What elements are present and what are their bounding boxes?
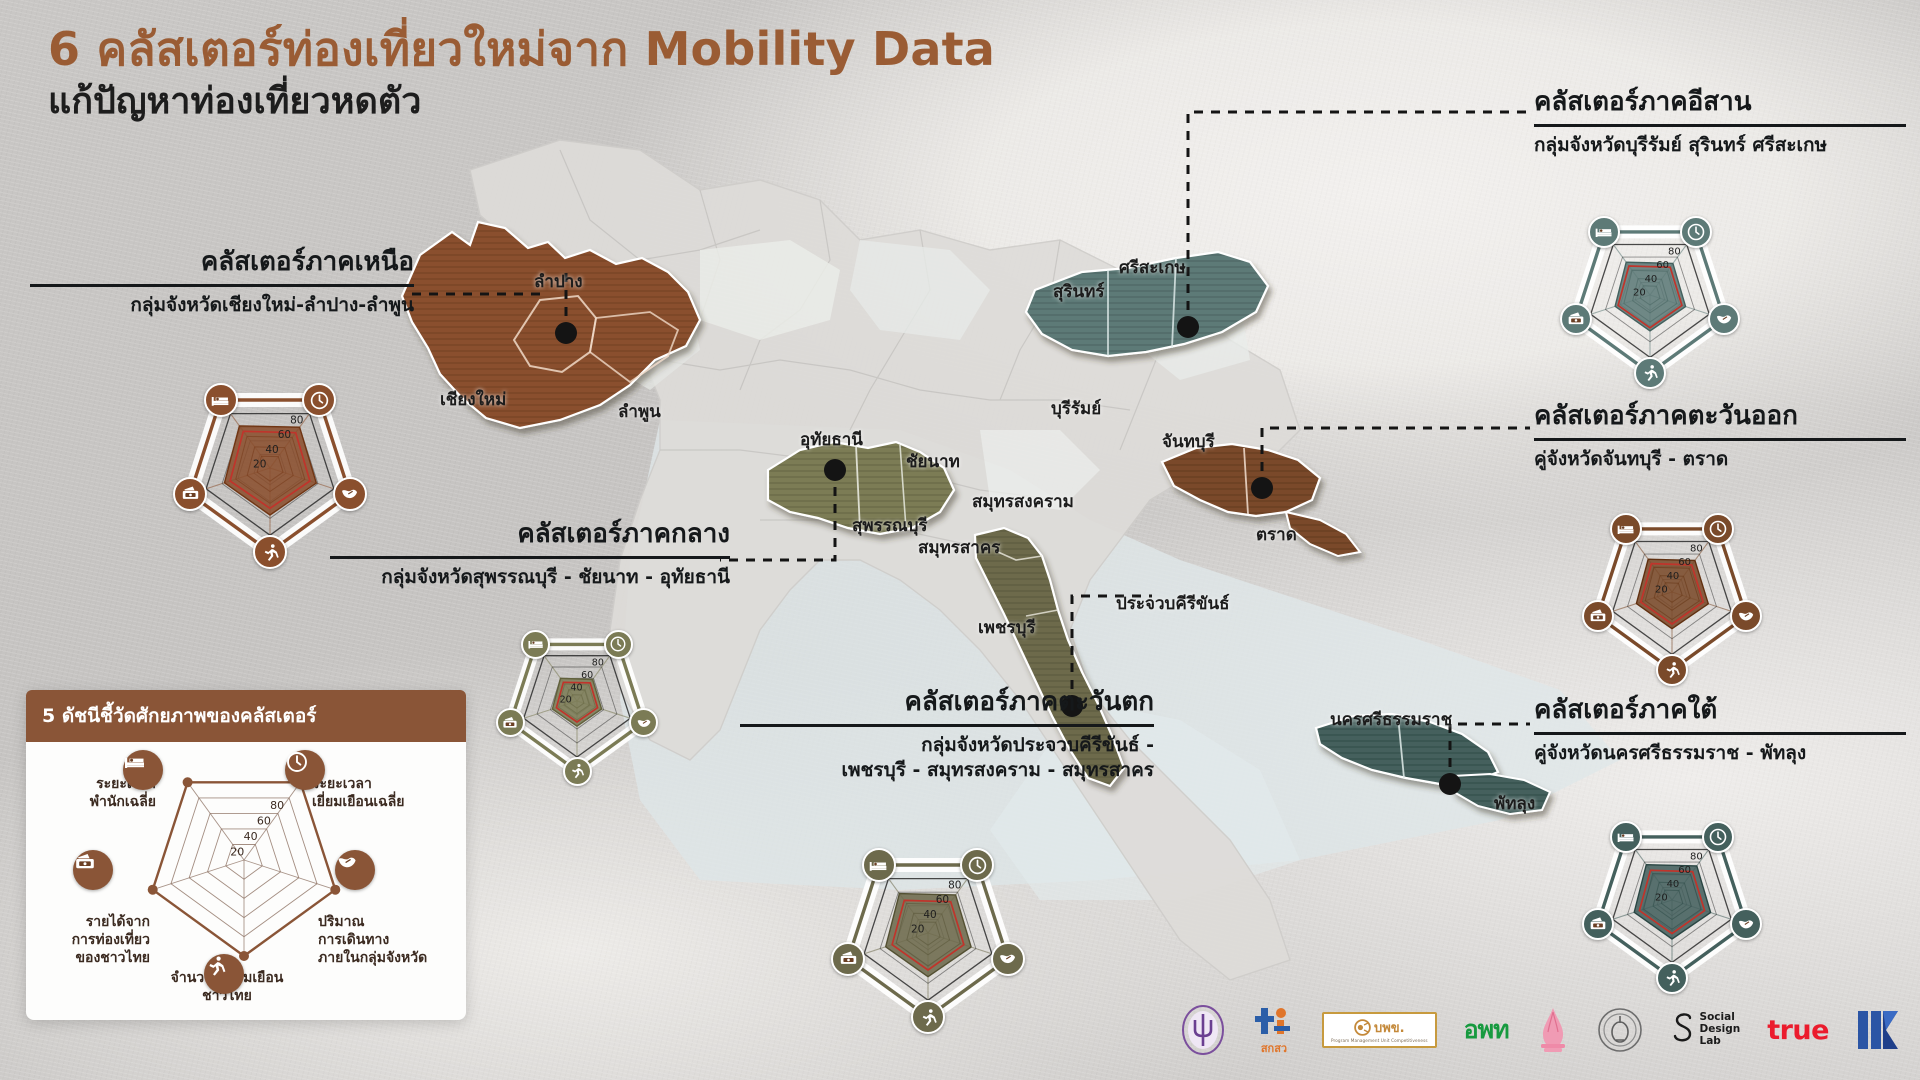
partner-logos: สกสว บพข. Program Management Unit Compet…	[1180, 995, 1900, 1065]
tsri-logo: สกสว	[1253, 1002, 1295, 1058]
radar-axis-runner-badge[interactable]	[1656, 654, 1688, 686]
radar-axis-map-badge[interactable]	[333, 477, 367, 511]
svg-text:40: 40	[265, 444, 278, 456]
legend-title: 5 ดัชนีชี้วัดศักยภาพของคลัสเตอร์	[26, 690, 466, 742]
svg-text:40: 40	[1645, 274, 1658, 285]
radar-axis-bed-badge[interactable]	[1588, 216, 1620, 248]
svg-text:40: 40	[570, 682, 582, 693]
svg-text:20: 20	[1655, 584, 1668, 595]
cluster-subtitle-west-line2: เพชรบุรี - สมุทรสงคราม - สมุทรสาคร	[740, 758, 1154, 784]
radar-axis-bed-badge[interactable]	[1610, 821, 1642, 853]
legend-radar-diagram: 80604020 ระยะเวลาพำนักเฉลี่ย ระยะเวลาเยี…	[26, 742, 466, 1020]
svg-text:60: 60	[581, 670, 593, 681]
cluster-subtitle-west-line1: กลุ่มจังหวัดประจวบคีรีขันธ์ -	[740, 733, 1154, 759]
legend-wallet-icon-badge	[73, 850, 113, 890]
cluster-title-central: คลัสเตอร์ภาคกลาง	[330, 518, 730, 551]
cluster-title-east: คลัสเตอร์ภาคตะวันออก	[1534, 400, 1906, 433]
cluster-label-central[interactable]: คลัสเตอร์ภาคกลาง กลุ่มจังหวัดสุพรรณบุรี …	[330, 518, 730, 590]
cluster-rule-west	[740, 724, 1154, 727]
wallet-icon	[1566, 309, 1586, 329]
cluster-title-south: คลัสเตอร์ภาคใต้	[1534, 694, 1906, 727]
province-label-prachuap: ประจวบคีรีขันธ์	[1116, 590, 1229, 617]
svg-text:60: 60	[1656, 260, 1669, 271]
province-label-lampang: ลำปาง	[534, 268, 583, 295]
map-icon	[339, 483, 360, 504]
svg-text:80: 80	[1690, 852, 1703, 863]
radar-axis-bed-badge[interactable]	[1610, 513, 1642, 545]
blue-mark-logo	[1856, 1002, 1900, 1058]
infographic-canvas: 6 คลัสเตอร์ท่องเที่ยวใหม่จาก Mobility Da…	[0, 0, 1920, 1080]
radar-axis-wallet-badge[interactable]	[831, 942, 865, 976]
radar-chart-east[interactable]: 80604020	[1552, 472, 1792, 712]
svg-text:60: 60	[257, 814, 271, 827]
runner-icon	[204, 954, 228, 978]
svg-text:80: 80	[290, 415, 303, 427]
svg-text:40: 40	[1667, 879, 1680, 890]
legend-label-visit: ระยะเวลาเยี่ยมเยือนเฉลี่ย	[312, 776, 462, 812]
province-label-samutsakhon: สมุทรสาคร	[918, 534, 1000, 561]
map-icon	[1714, 309, 1734, 329]
radar-chart-west[interactable]: 80604020	[800, 805, 1056, 1061]
cluster-subtitle-northeast: กลุ่มจังหวัดบุรีรัมย์ สุรินทร์ ศรีสะเกษ	[1534, 133, 1906, 159]
radar-axis-runner-badge[interactable]	[1634, 357, 1666, 389]
runner-icon	[568, 762, 586, 780]
radar-axis-runner-badge[interactable]	[1656, 962, 1688, 994]
bed-icon	[527, 635, 545, 653]
svg-text:40: 40	[244, 830, 258, 843]
cluster-rule-east	[1534, 438, 1906, 441]
legend-runner-icon-badge	[204, 954, 244, 994]
map-icon	[997, 948, 1018, 969]
bed-icon	[123, 750, 147, 774]
radar-chart-south[interactable]: 80604020	[1552, 780, 1792, 1020]
cluster-title-west: คลัสเตอร์ภาคตะวันตก	[740, 686, 1154, 719]
svg-text:60: 60	[936, 894, 949, 906]
svg-text:80: 80	[1690, 544, 1703, 555]
wallet-icon	[1588, 606, 1608, 626]
page-title: 6 คลัสเตอร์ท่องเที่ยวใหม่จาก Mobility Da…	[48, 22, 995, 123]
radar-axis-clock-badge[interactable]	[1680, 216, 1712, 248]
svg-text:20: 20	[253, 458, 266, 470]
runner-icon	[260, 542, 281, 563]
clock-icon	[285, 750, 309, 774]
legend-label-revenue: รายได้จากการท่องเที่ยวของชาวไทย	[20, 914, 150, 968]
tsri-caption: สกสว	[1261, 1039, 1287, 1057]
cluster-rule-northeast	[1534, 124, 1906, 127]
svg-text:20: 20	[230, 846, 244, 859]
cluster-label-east[interactable]: คลัสเตอร์ภาคตะวันออก คู่จังหวัดจันทบุรี …	[1534, 400, 1906, 472]
province-label-samutsongkhram: สมุทรสงคราม	[972, 488, 1074, 515]
runner-icon	[1640, 363, 1660, 383]
province-label-phetchaburi: เพชรบุรี	[978, 614, 1036, 641]
province-label-lamphun: ลำพูน	[618, 398, 661, 425]
radar-axis-clock-badge[interactable]	[604, 630, 633, 659]
svg-text:20: 20	[1633, 287, 1646, 298]
radar-axis-map-badge[interactable]	[991, 942, 1025, 976]
cluster-connector-north	[410, 286, 550, 302]
svg-text:60: 60	[1678, 557, 1691, 568]
radar-chart-central[interactable]: 80604020	[468, 592, 686, 810]
cluster-subtitle-south: คู่จังหวัดนครศรีธรรมราช - พัทลุง	[1534, 741, 1906, 767]
pink-figure-logo	[1536, 1002, 1570, 1058]
svg-text:40: 40	[923, 909, 936, 921]
cluster-rule-central	[330, 556, 730, 559]
svg-text:80: 80	[592, 658, 604, 669]
radar-axis-wallet-badge[interactable]	[1560, 303, 1592, 335]
svg-text:60: 60	[1678, 865, 1691, 876]
legend-panel: 5 ดัชนีชี้วัดศักยภาพของคลัสเตอร์ 8060402…	[26, 690, 466, 1020]
legend-bed-icon-badge	[123, 750, 163, 790]
true-logo: true	[1767, 1002, 1829, 1058]
runner-icon	[1662, 968, 1682, 988]
cluster-title-northeast: คลัสเตอร์ภาคอีสาน	[1534, 86, 1906, 119]
province-label-chanthaburi: จันทบุรี	[1162, 428, 1215, 455]
province-label-sisaket: ศรีสะเกษ	[1119, 254, 1186, 281]
province-label-chiangmai: เชียงใหม่	[440, 386, 506, 413]
clock-icon	[1686, 222, 1706, 242]
wallet-icon	[501, 714, 519, 732]
wallet-icon	[180, 483, 201, 504]
svg-text:80: 80	[1668, 247, 1681, 258]
bed-icon	[1616, 519, 1636, 539]
runner-icon	[1662, 660, 1682, 680]
radar-axis-wallet-badge[interactable]	[1582, 908, 1614, 940]
radar-axis-bed-badge[interactable]	[204, 383, 238, 417]
cluster-subtitle-north: กลุ่มจังหวัดเชียงใหม่-ลำปาง-ลำพูน	[30, 293, 414, 319]
province-label-uthaithani: อุทัยธานี	[800, 426, 863, 453]
map-icon	[335, 850, 359, 874]
clock-icon	[609, 635, 627, 653]
radar-axis-wallet-badge[interactable]	[173, 477, 207, 511]
province-label-nakhonsi: นครศรีธรรมราช	[1330, 706, 1452, 733]
bed-icon	[868, 855, 889, 876]
dasta-logo: อพท	[1464, 1002, 1509, 1058]
radar-axis-runner-badge[interactable]	[911, 1000, 945, 1034]
cluster-title-north: คลัสเตอร์ภาคเหนือ	[30, 246, 414, 279]
clock-icon	[1708, 519, 1728, 539]
radar-axis-map-badge[interactable]	[629, 708, 658, 737]
province-label-buriram: บุรีรัมย์	[1051, 395, 1101, 422]
true-caption: true	[1767, 1015, 1829, 1046]
radar-axis-wallet-badge[interactable]	[1582, 600, 1614, 632]
cluster-label-south[interactable]: คลัสเตอร์ภาคใต้ คู่จังหวัดนครศรีธรรมราช …	[1534, 694, 1906, 766]
map-icon	[635, 714, 653, 732]
radar-axis-runner-badge[interactable]	[253, 535, 287, 569]
bed-icon	[1594, 222, 1614, 242]
province-label-phatthalung: พัทลุง	[1494, 790, 1535, 817]
pmuc-subcaption: Program Management Unit Competitiveness	[1331, 1038, 1428, 1043]
radar-chart-northeast[interactable]: 80604020	[1530, 175, 1770, 415]
radar-axis-bed-badge[interactable]	[521, 630, 550, 659]
headline-line-2: แก้ปัญหาท่องเที่ยวหดตัว	[48, 80, 995, 123]
svg-text:20: 20	[1655, 892, 1668, 903]
social-design-lab-caption: SocialDesignLab	[1700, 1012, 1741, 1047]
svg-text:60: 60	[278, 429, 291, 441]
pmuc-caption: บพข.	[1374, 1017, 1405, 1038]
clock-icon	[1708, 827, 1728, 847]
legend-map-icon-badge	[335, 850, 375, 890]
map-icon	[1736, 606, 1756, 626]
radar-axis-wallet-badge[interactable]	[496, 708, 525, 737]
bed-icon	[1616, 827, 1636, 847]
wallet-icon	[838, 948, 859, 969]
clock-icon	[967, 855, 988, 876]
wallet-icon	[73, 850, 97, 874]
legend-label-travel: ปริมาณการเดินทางภายในกลุ่มจังหวัด	[318, 914, 466, 968]
wallet-icon	[1588, 914, 1608, 934]
cluster-label-north[interactable]: คลัสเตอร์ภาคเหนือ กลุ่มจังหวัดเชียงใหม่-…	[30, 246, 414, 318]
cluster-label-west[interactable]: คลัสเตอร์ภาคตะวันตก กลุ่มจังหวัดประจวบคี…	[740, 686, 1154, 784]
province-label-surin: สุรินทร์	[1053, 278, 1104, 305]
cluster-rule-north	[30, 284, 414, 287]
cluster-label-northeast[interactable]: คลัสเตอร์ภาคอีสาน กลุ่มจังหวัดบุรีรัมย์ …	[1534, 86, 1906, 158]
radar-axis-bed-badge[interactable]	[862, 848, 896, 882]
svg-text:80: 80	[270, 799, 284, 812]
province-label-chainat: ชัยนาท	[906, 448, 960, 475]
headline-line-1: 6 คลัสเตอร์ท่องเที่ยวใหม่จาก Mobility Da…	[48, 22, 995, 76]
clock-icon	[309, 390, 330, 411]
svg-text:80: 80	[948, 880, 961, 892]
radar-axis-clock-badge[interactable]	[1702, 513, 1734, 545]
social-design-lab-logo: SocialDesignLab	[1670, 1002, 1741, 1058]
map-icon	[1736, 914, 1756, 934]
dasta-caption: อพท	[1464, 1010, 1509, 1050]
pmuc-logo: บพข. Program Management Unit Competitive…	[1322, 1002, 1437, 1058]
radar-axis-runner-badge[interactable]	[563, 757, 592, 786]
bed-icon	[210, 390, 231, 411]
circle-seal-logo	[1597, 1002, 1643, 1058]
province-label-trat: ตราด	[1256, 521, 1297, 548]
trident-seal-logo	[1180, 1002, 1226, 1058]
cluster-rule-south	[1534, 732, 1906, 735]
runner-icon	[918, 1007, 939, 1028]
cluster-subtitle-east: คู่จังหวัดจันทบุรี - ตราด	[1534, 447, 1906, 473]
svg-text:20: 20	[911, 923, 924, 935]
svg-text:20: 20	[560, 695, 572, 706]
svg-text:40: 40	[1667, 571, 1680, 582]
radar-axis-clock-badge[interactable]	[1702, 821, 1734, 853]
cluster-subtitle-central: กลุ่มจังหวัดสุพรรณบุรี - ชัยนาท - อุทัยธ…	[330, 565, 730, 591]
province-label-suphanburi: สุพรรณบุรี	[852, 512, 928, 539]
